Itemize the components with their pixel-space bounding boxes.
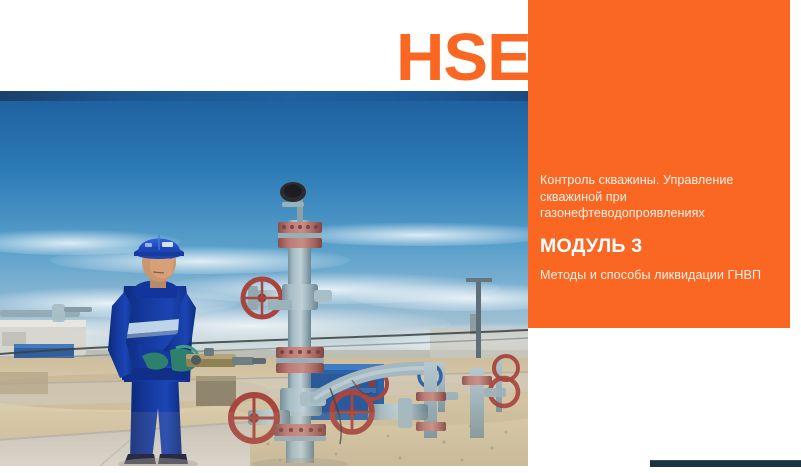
footer-navy-rule	[650, 460, 801, 467]
slide-canvas: HSE Контроль скважины. Управление скважи…	[0, 0, 801, 473]
module-title: МОДУЛЬ 3	[540, 235, 786, 258]
course-subtitle: Контроль скважины. Управление скважиной …	[540, 172, 786, 222]
module-descriptor: Методы и способы ликвидации ГНВП	[540, 267, 786, 283]
wellhead-photograph	[0, 92, 528, 466]
hse-wordmark: HSE	[396, 22, 536, 94]
title-text-block: Контроль скважины. Управление скважиной …	[540, 172, 786, 283]
